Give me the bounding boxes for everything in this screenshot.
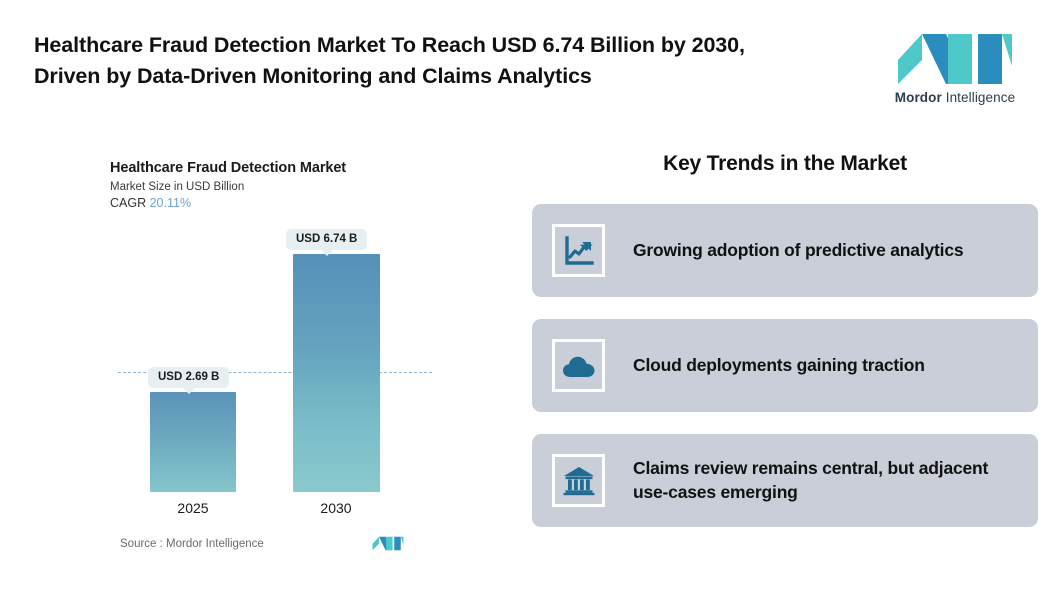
mordor-logo-wordmark: Mordor Intelligence: [895, 90, 1015, 105]
trend-text-2: Cloud deployments gaining traction: [633, 354, 925, 377]
x-tick-2025: 2025: [143, 500, 243, 516]
chart-source: Source : Mordor Intelligence: [120, 535, 440, 552]
trend-text-3: Claims review remains central, but adjac…: [633, 457, 1020, 504]
mordor-logo-mark-small: [372, 535, 404, 552]
chart-cagr: CAGR 20.11%: [110, 196, 440, 210]
value-label-2030: USD 6.74 B: [286, 229, 367, 250]
chart-subtitle: Market Size in USD Billion: [110, 181, 440, 193]
trend-card-cloud-deployments[interactable]: Cloud deployments gaining traction: [532, 319, 1038, 412]
cloud-icon-glyph: [562, 353, 596, 379]
brand-word-intelligence: Intelligence: [946, 90, 1016, 105]
trend-card-claims-review[interactable]: Claims review remains central, but adjac…: [532, 434, 1038, 527]
chart-plot-area: USD 2.69 B USD 6.74 B: [110, 232, 440, 492]
value-label-2025: USD 2.69 B: [148, 367, 229, 388]
trend-text-1: Growing adoption of predictive analytics: [633, 239, 963, 262]
headline-line-1: Healthcare Fraud Detection Market To Rea…: [34, 33, 745, 57]
trend-card-predictive-analytics[interactable]: Growing adoption of predictive analytics: [532, 204, 1038, 297]
key-trends-title: Key Trends in the Market: [532, 152, 1038, 176]
mordor-intelligence-logo: Mordor Intelligence: [890, 32, 1020, 105]
chart-x-axis: 2025 2030: [110, 500, 440, 524]
cagr-label: CAGR: [110, 196, 146, 210]
key-trends-panel: Key Trends in the Market Growing adoptio…: [532, 152, 1038, 549]
cagr-value: 20.11%: [150, 196, 191, 210]
headline-line-2: Driven by Data-Driven Monitoring and Cla…: [34, 61, 745, 92]
source-label: Source :: [120, 538, 163, 550]
bank-icon-glyph: [563, 466, 595, 496]
market-size-chart: Healthcare Fraud Detection Market Market…: [110, 160, 440, 560]
x-tick-2030: 2030: [286, 500, 386, 516]
line-chart-up-icon: [552, 224, 605, 277]
page-title: Healthcare Fraud Detection Market To Rea…: [34, 30, 745, 91]
brand-word-mordor: Mordor: [895, 90, 942, 105]
cloud-icon: [552, 339, 605, 392]
source-text: Source : Mordor Intelligence: [120, 538, 264, 550]
bank-icon: [552, 454, 605, 507]
source-name: Mordor Intelligence: [166, 538, 264, 550]
line-chart-up-icon-glyph: [563, 235, 595, 267]
mordor-logo-mark: [896, 32, 1014, 86]
bar-2025: [150, 392, 236, 492]
infographic-page: Healthcare Fraud Detection Market To Rea…: [0, 0, 1063, 589]
bar-2030: [293, 254, 380, 492]
header: Healthcare Fraud Detection Market To Rea…: [34, 30, 1034, 110]
chart-title: Healthcare Fraud Detection Market: [110, 160, 440, 176]
